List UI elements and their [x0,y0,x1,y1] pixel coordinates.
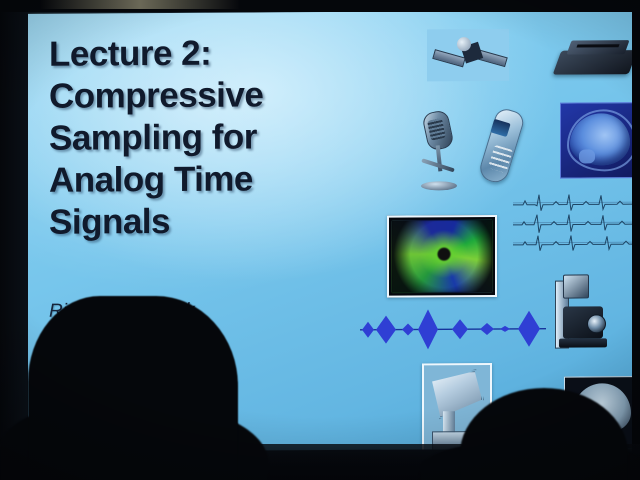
title-line-5: Signals [49,200,379,244]
scanner-slot-icon [576,44,619,47]
title-line-3: Sampling for [49,116,379,160]
vintage-camera-image [551,272,613,360]
microphone-base-icon [421,181,457,190]
lecture-hall-photo: Lecture 2: Compressive Sampling for Anal… [0,0,640,480]
title-line-1: Lecture 2: [49,32,379,76]
room-wall-top [0,0,640,12]
satellite-dish-icon [457,37,471,51]
scanner-device-image [557,36,633,80]
camera-base-icon [559,338,607,347]
audience-silhouette-left [28,296,238,480]
microphone-image [415,107,465,195]
room-wall-left [0,0,28,480]
telescope-mast-icon [443,411,455,433]
title-line-4: Analog Time [49,158,379,202]
mobile-phone-image [479,107,525,185]
ecg-svg-icon [513,192,633,255]
mri-brain-image [560,102,633,178]
slide-title: Lecture 2: Compressive Sampling for Anal… [49,32,379,244]
ecg-traces-image [513,192,633,255]
camera-top-icon [563,274,589,298]
brain-skull-outline-icon [567,109,633,171]
signal-waveform-image [360,307,546,352]
storm-vignette-icon [392,220,492,293]
room-wall-right [632,0,640,480]
camera-lens-icon [587,314,606,333]
hurricane-radar-image [387,215,497,298]
satellite-wing-left-icon [432,49,466,67]
telescope-dish-rim-icon [428,369,484,419]
title-line-2: Compressive [49,74,379,118]
brain-stem-icon [579,149,595,163]
satellite-image [427,29,509,82]
waveform-svg-icon [360,307,546,352]
